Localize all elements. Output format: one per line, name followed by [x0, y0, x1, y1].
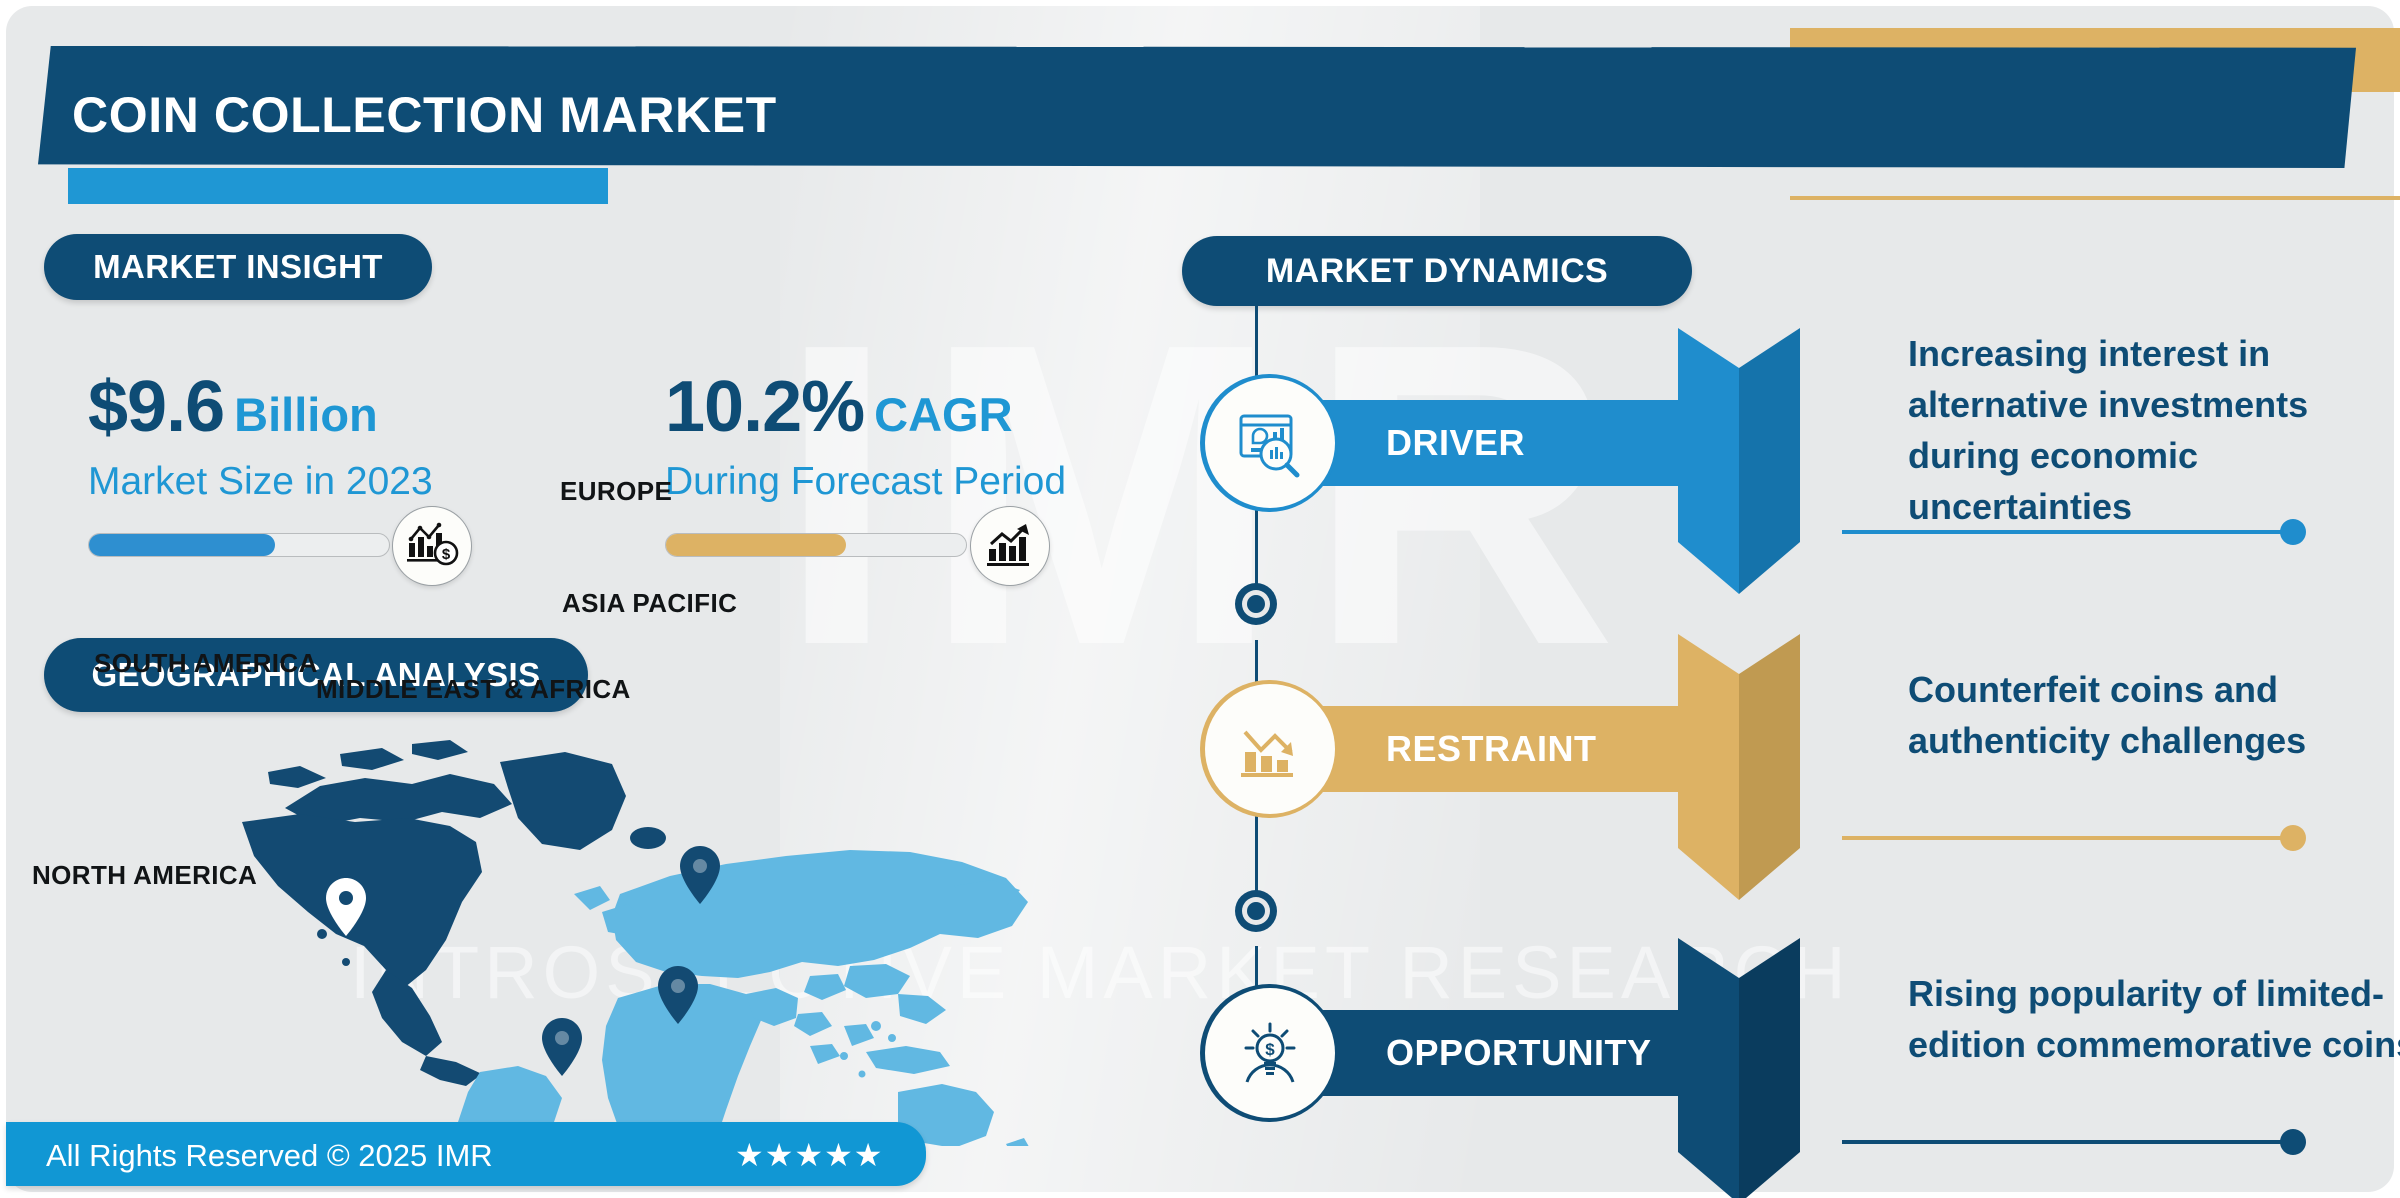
infographic-canvas: IMR INTROSPECTIVE MARKET RESEARCH COIN C… — [0, 0, 2400, 1198]
opportunity-label: OPPORTUNITY — [1386, 1032, 1652, 1074]
driver-text: Increasing interest in alternative inves… — [1908, 328, 2400, 532]
driver-rule-dot — [2280, 519, 2306, 545]
map-label-south-america: SOUTH AMERICA — [94, 648, 318, 679]
map-label-europe: EUROPE — [560, 476, 672, 507]
svg-text:$: $ — [1265, 1040, 1275, 1059]
stat-caption: During Forecast Period — [665, 460, 1066, 504]
opportunity-rule-dot — [2280, 1129, 2306, 1155]
market-dynamics-pill: MARKET DYNAMICS — [1182, 236, 1692, 306]
map-label-asia-pacific: ASIA PACIFIC — [562, 588, 737, 619]
market-size-progress-fill — [89, 534, 275, 556]
header-underline-accent — [68, 168, 608, 204]
cagr-progress-track — [665, 533, 967, 557]
lightbulb-dollar-icon: $ — [1205, 988, 1335, 1118]
driver-rule — [1842, 530, 2292, 534]
stat-unit: Billion — [234, 388, 378, 441]
stat-unit: CAGR — [874, 388, 1012, 441]
stat-cagr: 10.2%CAGR During Forecast Period — [665, 366, 1066, 504]
stat-value: 10.2% — [665, 367, 864, 447]
timeline-node-1 — [1235, 583, 1277, 625]
map-label-middle-east-africa: MIDDLE EAST & AFRICA — [316, 674, 631, 705]
report-magnifier-icon — [1205, 378, 1335, 508]
bar-chart-dollar-icon: $ — [392, 506, 472, 586]
restraint-rule — [1842, 836, 2292, 840]
page-title: COIN COLLECTION MARKET — [72, 86, 777, 144]
timeline-node-2 — [1235, 890, 1277, 932]
market-size-progress-track — [88, 533, 390, 557]
restraint-label: RESTRAINT — [1386, 728, 1597, 770]
footer-copyright: All Rights Reserved © 2025 IMR — [46, 1138, 493, 1174]
market-insight-pill: MARKET INSIGHT — [44, 234, 432, 300]
driver-label: DRIVER — [1386, 422, 1525, 464]
map-pin-middle-east-africa — [542, 1018, 582, 1076]
map-label-north-america: NORTH AMERICA — [32, 860, 257, 891]
stat-value: $9.6 — [88, 367, 224, 447]
svg-text:$: $ — [442, 546, 451, 563]
restraint-text: Counterfeit coins and authenticity chall… — [1908, 664, 2400, 766]
stat-market-size: $9.6Billion Market Size in 2023 — [88, 366, 433, 504]
declining-bar-chart-icon — [1205, 684, 1335, 814]
growth-arrow-icon — [970, 506, 1050, 586]
stat-caption: Market Size in 2023 — [88, 460, 433, 504]
world-map — [150, 726, 1070, 1146]
footer-star-rating: ★★★★★ — [735, 1136, 883, 1174]
cagr-progress-fill — [666, 534, 846, 556]
opportunity-text: Rising popularity of limited-edition com… — [1908, 968, 2400, 1070]
opportunity-rule — [1842, 1140, 2292, 1144]
header-gold-rule — [1790, 196, 2400, 200]
restraint-rule-dot — [2280, 825, 2306, 851]
